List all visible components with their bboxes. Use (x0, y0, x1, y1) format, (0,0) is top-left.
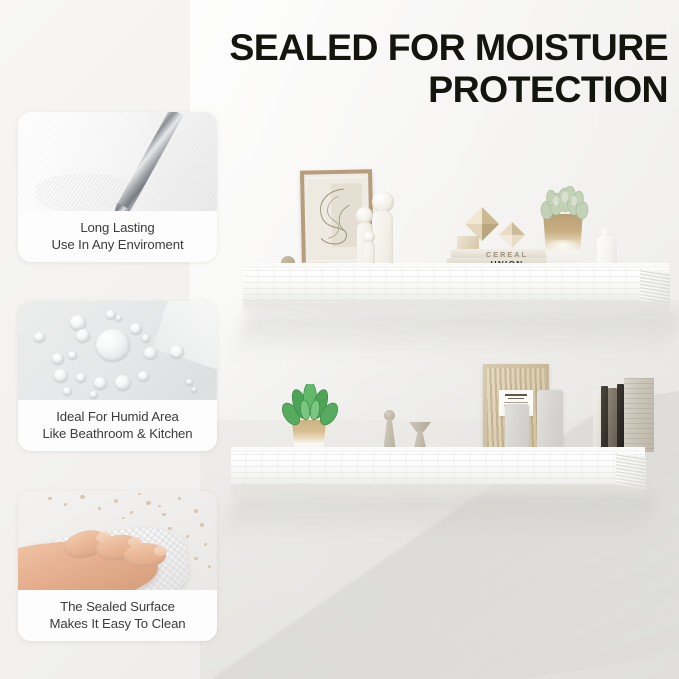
water-drop-icon (144, 347, 157, 359)
pillar-candle-short (505, 404, 529, 452)
caption-line-2: Like Beathroom & Kitchen (42, 426, 192, 443)
water-drop-icon (54, 369, 68, 382)
caption-line-2: Use In Any Enviroment (51, 237, 183, 254)
caption-line-1: Ideal For Humid Area (56, 409, 179, 426)
book-spine-dark-c (608, 388, 617, 452)
water-drop-icon (63, 387, 72, 395)
upper-shelf (243, 268, 669, 301)
infographic-canvas: SEALED FOR MOISTURE PROTECTION Long Last… (0, 0, 679, 679)
water-drop-icon (192, 387, 197, 392)
feature-caption-durability: Long Lasting Use In Any Enviroment (18, 211, 217, 262)
headline-line-1: SEALED FOR MOISTURE (229, 26, 668, 68)
caption-line-1: The Sealed Surface (60, 599, 175, 616)
book-spine-dark-b (601, 386, 608, 452)
water-drop-icon (76, 373, 86, 382)
succulent-planter (541, 214, 585, 270)
caption-line-2: Makes It Easy To Clean (49, 616, 185, 633)
water-drop-icon (138, 371, 149, 381)
water-drop-icon (94, 377, 107, 389)
water-drop-icon (130, 323, 142, 334)
pillar-candle-tall (537, 390, 563, 452)
feature-panel-moisture: Ideal For Humid Area Like Beathroom & Ki… (18, 301, 217, 451)
upper-shelf-decor: CEREAL UNION (243, 150, 669, 270)
feature-panel-durability: Long Lasting Use In Any Enviroment (18, 112, 217, 262)
lower-shelf-decor (231, 360, 645, 452)
water-drop-icon (96, 329, 130, 361)
water-drop-icon (76, 329, 90, 342)
water-drop-icon (186, 379, 193, 385)
water-drop-icon (34, 332, 45, 342)
page-title: SEALED FOR MOISTURE PROTECTION (190, 26, 668, 110)
caption-line-1: Long Lasting (80, 220, 154, 237)
lower-shelf (231, 452, 645, 485)
plant-leaves (281, 384, 339, 426)
geometric-star-small (499, 222, 525, 248)
couple-figurine (348, 191, 396, 269)
feature-panel-cleanability: The Sealed Surface Makes It Easy To Clea… (18, 491, 217, 641)
water-drop-icon (52, 353, 64, 364)
water-drop-icon (170, 345, 184, 358)
book-spine-dark-a (593, 390, 601, 452)
water-drop-icon (68, 351, 77, 359)
water-drop-icon (115, 375, 131, 390)
water-drop-icon (142, 334, 150, 342)
wooden-figurine-tall (381, 410, 398, 452)
book-thick-beige (624, 378, 654, 452)
book-spine-dark-d (617, 384, 624, 452)
water-drop-icon (90, 391, 98, 398)
feature-caption-moisture: Ideal For Humid Area Like Beathroom & Ki… (18, 400, 217, 451)
headline-line-2: PROTECTION (190, 68, 668, 110)
feature-caption-cleanability: The Sealed Surface Makes It Easy To Clea… (18, 590, 217, 641)
water-drop-icon (116, 315, 122, 321)
water-drop-icon (70, 315, 86, 330)
water-drop-icon (106, 310, 116, 319)
succulent-plant (535, 186, 591, 220)
